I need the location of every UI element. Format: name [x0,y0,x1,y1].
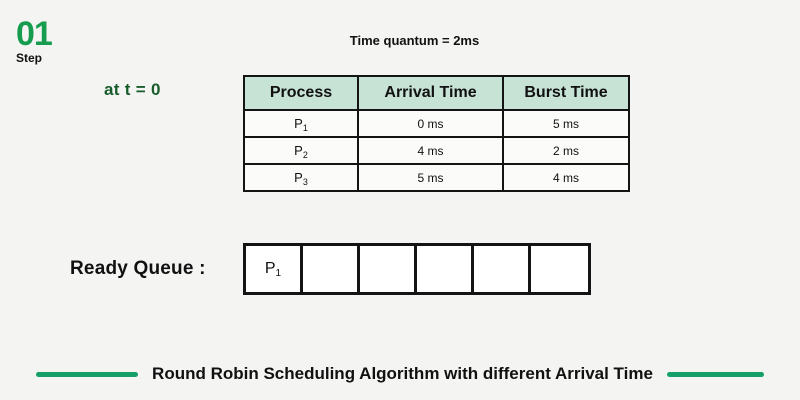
cell-burst-time: 2 ms [503,137,629,164]
ready-queue-boxes: P1 [243,243,591,295]
cell-process-name: P3 [244,164,358,191]
table-header-burst-time: Burst Time [503,76,629,110]
footer-rule-right [667,372,764,377]
queue-process-index: 1 [276,268,282,279]
process-letter: P [294,170,303,185]
queue-cell [360,246,417,292]
queue-cell [417,246,474,292]
cell-process-name: P1 [244,110,358,137]
step-badge: 01 Step [16,18,86,65]
cell-arrival-time: 0 ms [358,110,503,137]
step-word-label: Step [16,51,86,65]
footer-title: Round Robin Scheduling Algorithm with di… [152,364,653,384]
cell-arrival-time: 4 ms [358,137,503,164]
table-header-row: Process Arrival Time Burst Time [244,76,629,110]
table-row: P1 0 ms 5 ms [244,110,629,137]
process-letter: P [294,116,303,131]
process-letter: P [294,143,303,158]
cell-arrival-time: 5 ms [358,164,503,191]
queue-cell: P1 [246,246,303,292]
process-index: 1 [303,123,308,133]
process-index: 2 [303,150,308,160]
table-header-arrival-time: Arrival Time [358,76,503,110]
cell-process-name: P2 [244,137,358,164]
step-number: 01 [16,18,86,50]
table-row: P3 5 ms 4 ms [244,164,629,191]
table-header-process: Process [244,76,358,110]
table-row: P2 4 ms 2 ms [244,137,629,164]
queue-process-letter: P [265,260,276,278]
process-index: 3 [303,177,308,187]
cell-burst-time: 5 ms [503,110,629,137]
current-time-label: at t = 0 [104,80,161,100]
queue-cell [531,246,588,292]
cell-burst-time: 4 ms [503,164,629,191]
ready-queue-label: Ready Queue : [70,258,243,280]
queue-cell [303,246,360,292]
queue-cell [474,246,531,292]
footer-rule-left [36,372,138,377]
footer-caption: Round Robin Scheduling Algorithm with di… [0,364,800,384]
ready-queue-section: Ready Queue : P1 [70,243,591,295]
time-quantum-label: Time quantum = 2ms [243,33,586,48]
process-table: Process Arrival Time Burst Time P1 0 ms … [243,75,630,192]
